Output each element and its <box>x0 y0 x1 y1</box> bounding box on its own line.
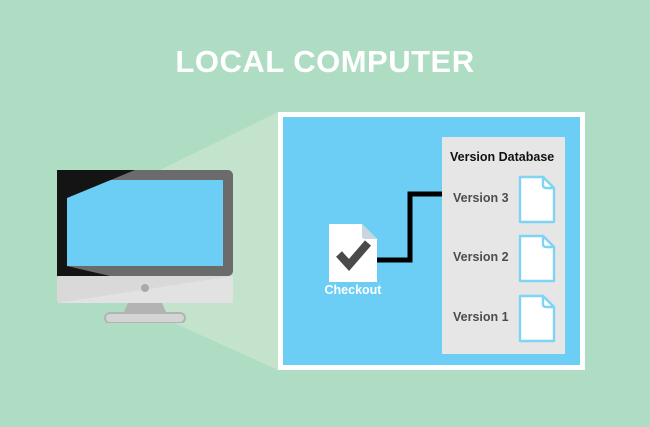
version-row[interactable]: Version 3 <box>442 175 565 227</box>
version-label: Version 2 <box>453 250 509 264</box>
version-database-panel: Version Database Version 3 Version 2 <box>442 137 565 354</box>
version-row[interactable]: Version 1 <box>442 294 565 346</box>
document-icon <box>518 294 556 343</box>
version-label: Version 3 <box>453 191 509 205</box>
local-computer-monitor <box>55 168 235 323</box>
checkout-node[interactable]: Checkout <box>321 224 385 302</box>
version-row[interactable]: Version 2 <box>442 234 565 286</box>
checkout-label: Checkout <box>321 283 385 297</box>
panel-inner: Checkout Version Database Version 3 Vers… <box>283 117 580 365</box>
version-database-title: Version Database <box>450 150 554 164</box>
version-label: Version 1 <box>453 310 509 324</box>
document-check-icon <box>329 224 377 282</box>
document-icon <box>518 175 556 224</box>
document-icon <box>518 234 556 283</box>
page-title: LOCAL COMPUTER <box>0 44 650 80</box>
diagram-canvas: LOCAL COMPUTER <box>0 0 650 427</box>
local-computer-panel: Checkout Version Database Version 3 Vers… <box>278 112 585 370</box>
